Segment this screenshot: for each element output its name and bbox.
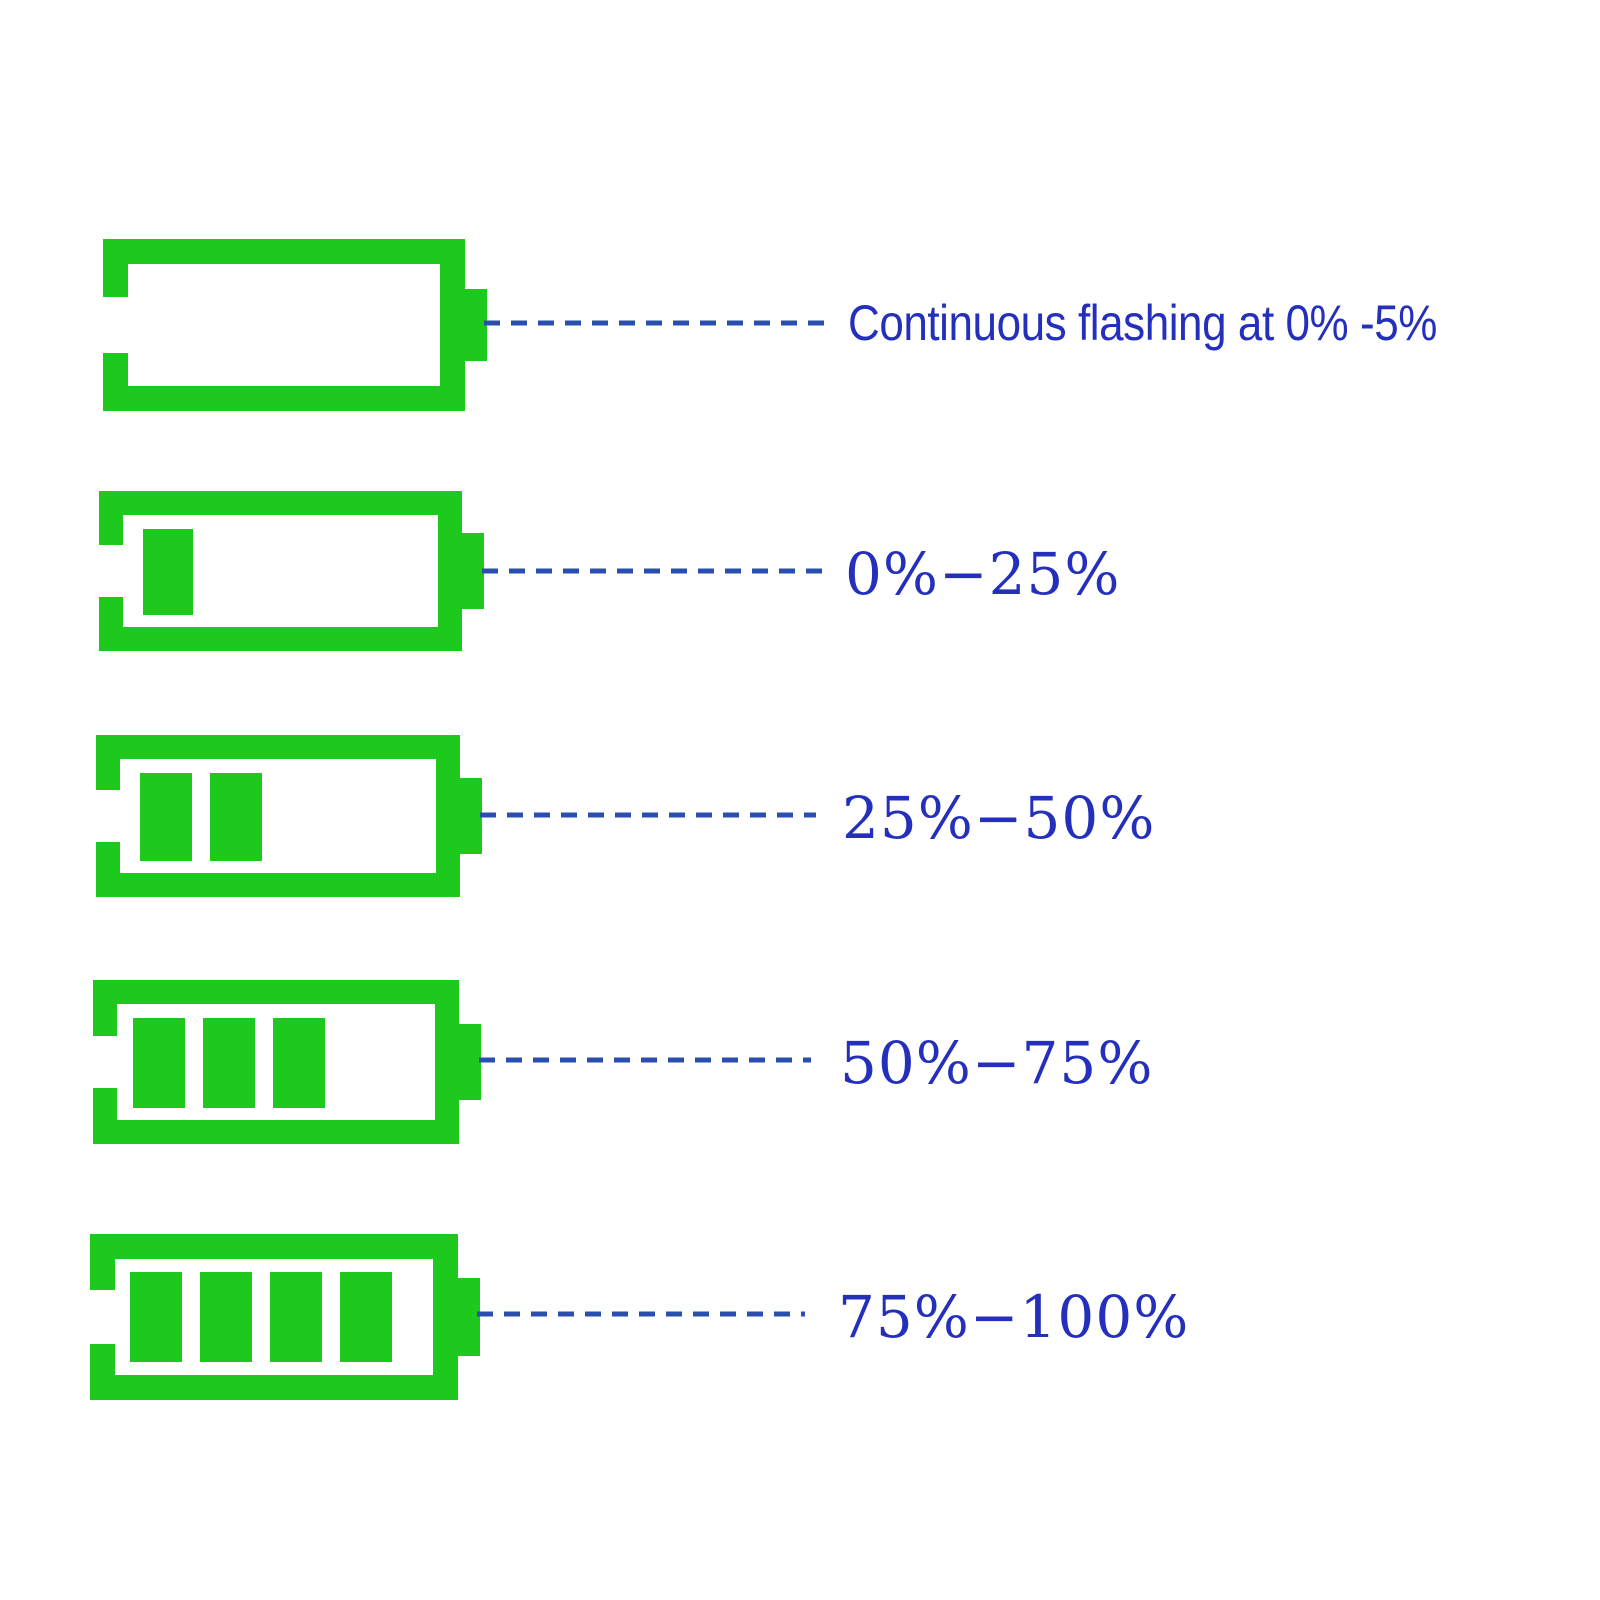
battery-icon-four-bars [90, 1234, 480, 1400]
leader-line-two-bars [480, 812, 816, 818]
leader-line-empty [484, 320, 832, 326]
battery-fill-bars [133, 1018, 325, 1108]
battery-fill-bars [143, 529, 193, 615]
battery-icon-three-bars [93, 980, 479, 1144]
battery-fill-bars [140, 773, 262, 861]
label-75-100: 75%−100% [838, 1288, 1189, 1346]
battery-icon-two-bars [96, 735, 480, 897]
battery-fill-bars [130, 1272, 392, 1362]
label-25-50: 25%−50% [842, 789, 1155, 847]
battery-icon-empty [103, 239, 483, 411]
label-0-25: 0%−25% [845, 545, 1121, 603]
leader-line-four-bars [477, 1311, 805, 1317]
battery-icon-one-bar [99, 491, 481, 651]
label-flashing: Continuous flashing at 0% -5% [848, 298, 1437, 348]
leader-line-three-bars [479, 1057, 811, 1063]
leader-line-one-bar [482, 568, 822, 574]
label-50-75: 50%−75% [840, 1034, 1153, 1092]
battery-level-legend-diagram: Continuous flashing at 0% -5% [0, 0, 1600, 1600]
